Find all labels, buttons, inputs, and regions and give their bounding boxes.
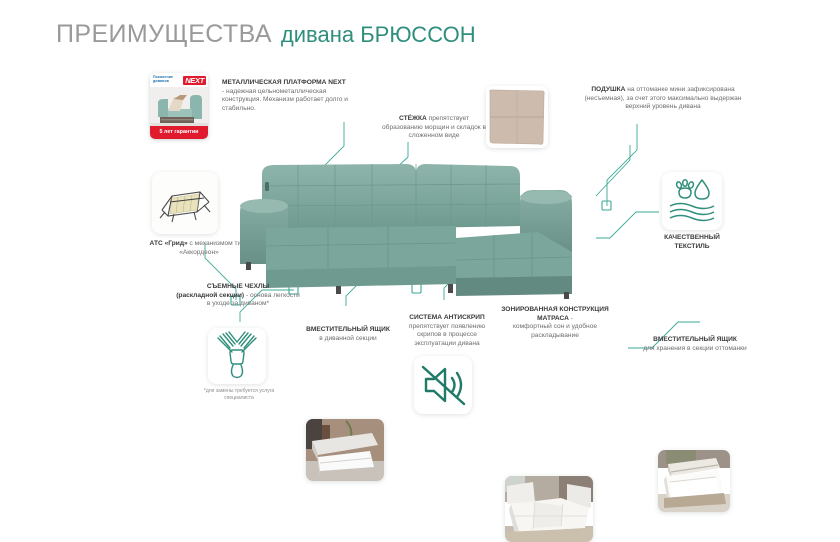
feature-heading-anti-squeak: СИСТЕМА АНТИСКРИП	[409, 314, 485, 321]
storage-box-photo	[306, 419, 384, 481]
badge-armchair-photo	[150, 87, 208, 126]
infographic-canvas: ПРЕИМУЩЕСТВАдивана БРЮССОН Поколение див…	[0, 0, 840, 450]
feature-heading-ats-grid: АТС «Грид»	[150, 240, 188, 247]
feature-text-quality-textile: КАЧЕСТВЕННЫЙ ТЕКСТИЛЬ	[650, 234, 734, 251]
feature-heading-metal-platform: МЕТАЛЛИЧЕСКАЯ ПЛАТФОРМА NEXT	[222, 79, 346, 86]
feature-body-storage-ottoman: для хранения в секции оттоманки	[643, 345, 747, 352]
paw-droplet-fabric-icon	[662, 172, 722, 230]
badge-warranty-text: 5 лет гарантии	[150, 126, 208, 139]
feature-heading-zoned-mattress: ЗОНИРОВАННАЯ КОНСТРУКЦИЯ МАТРАСА	[501, 306, 608, 322]
feature-body-stitching: препятствует образованию морщин и складо…	[382, 115, 486, 139]
feature-text-storage-sofa: ВМЕСТИТЕЛЬНЫЙ ЯЩИК в диванной секции	[296, 326, 400, 343]
feature-body-storage-sofa: в диванной секции	[319, 335, 376, 342]
feature-text-pillow: ПОДУШКА на оттоманке мини зафиксирована …	[578, 86, 748, 112]
feature-text-storage-ottoman: ВМЕСТИТЕЛЬНЫЙ ЯЩИК для хранения в секции…	[640, 336, 750, 353]
metal-frame-photo	[152, 172, 218, 234]
feature-heading-storage-ottoman: ВМЕСТИТЕЛЬНЫЙ ЯЩИК	[653, 336, 737, 343]
badge-next-mark: NEXT	[183, 76, 206, 85]
feature-dash-metal-platform: -	[222, 88, 224, 95]
next-warranty-badge: Поколение диванов NEXT 5 лет гарантии	[150, 73, 208, 139]
feature-text-zoned-mattress: ЗОНИРОВАННАЯ КОНСТРУКЦИЯ МАТРАСА - комфо…	[497, 306, 613, 340]
feature-body-zoned-mattress: комфортный сон и удобное раскладывание	[513, 323, 597, 339]
feature-text-anti-squeak: СИСТЕМА АНТИСКРИП препятствует появлению…	[396, 314, 498, 348]
feature-heading2-quality-textile: ТЕКСТИЛЬ	[674, 243, 709, 250]
feature-heading-stitching: СТЁЖКА	[399, 115, 427, 122]
feature-note-removable-covers: *для замены требуется услуга специалиста	[194, 388, 284, 401]
badge-brand-row: Поколение диванов NEXT	[150, 73, 208, 87]
feature-heading-pillow: ПОДУШКА	[591, 86, 625, 93]
quilted-pillow-photo	[486, 86, 548, 148]
feature-dash-zoned-mattress: -	[571, 315, 573, 322]
badge-brand-text: Поколение диванов	[153, 75, 173, 84]
feature-dash-removable-covers: -	[246, 292, 248, 299]
feature-text-metal-platform: МЕТАЛЛИЧЕСКАЯ ПЛАТФОРМА NEXT - надежная …	[222, 79, 348, 113]
feature-heading-storage-sofa: ВМЕСТИТЕЛЬНЫЙ ЯЩИК	[306, 326, 390, 333]
feature-body-metal-platform: надежная цельнометаллическая конструкция…	[222, 88, 348, 112]
feature-body-anti-squeak: препятствует появлению скрипов в процесс…	[409, 323, 485, 347]
page-title: ПРЕИМУЩЕСТВАдивана БРЮССОН	[56, 20, 476, 49]
feature-text-stitching: СТЁЖКА препятствует образованию морщин и…	[378, 115, 490, 141]
unfolded-bed-photo	[505, 476, 593, 542]
ottoman-storage-photo	[658, 450, 730, 512]
title-accent: дивана БРЮССОН	[281, 22, 476, 48]
feature-heading2-removable-covers: (раскладной секции)	[176, 292, 244, 299]
feature-heading-quality-textile: КАЧЕСТВЕННЫЙ	[664, 234, 720, 241]
feature-heading-removable-covers: СЪЕМНЫЕ ЧЕХЛЫ	[207, 283, 269, 290]
feature-text-removable-covers: СЪЕМНЫЕ ЧЕХЛЫ (раскладной секции) - осно…	[176, 283, 300, 309]
muted-speaker-icon	[414, 356, 472, 414]
zipper-icon	[208, 328, 266, 384]
title-primary: ПРЕИМУЩЕСТВА	[56, 20, 272, 49]
